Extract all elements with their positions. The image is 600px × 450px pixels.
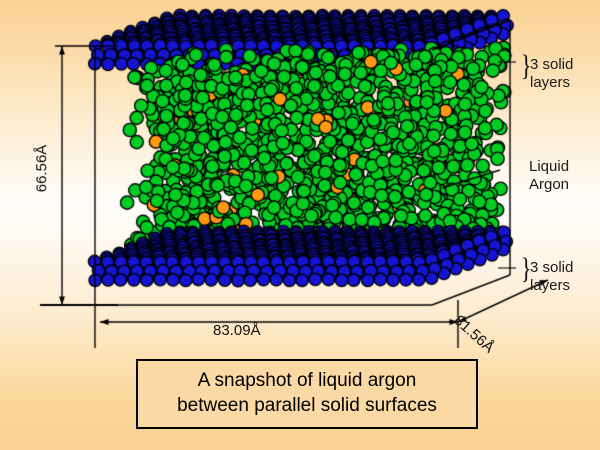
liquid-argon-label-line1: Liquid: [529, 158, 569, 175]
top-solid-label-line2: layers: [530, 74, 570, 91]
caption-line-1: A snapshot of liquid argon: [142, 368, 472, 393]
bottom-solid-label-line1: 3 solid: [530, 259, 573, 276]
liquid-argon-label-line2: Argon: [529, 176, 569, 193]
figure-caption: A snapshot of liquid argon between paral…: [136, 359, 478, 429]
bottom-solid-label-line2: layers: [530, 277, 570, 294]
width-dimension-label: 83.09Å: [213, 322, 261, 339]
caption-line-2: between parallel solid surfaces: [142, 393, 472, 418]
top-solid-label-line1: 3 solid: [530, 56, 573, 73]
height-dimension-label: 66.56Å: [33, 145, 50, 193]
figure-canvas: 66.56Å 83.09Å 81.56Å } 3 solid layers Li…: [0, 0, 600, 450]
